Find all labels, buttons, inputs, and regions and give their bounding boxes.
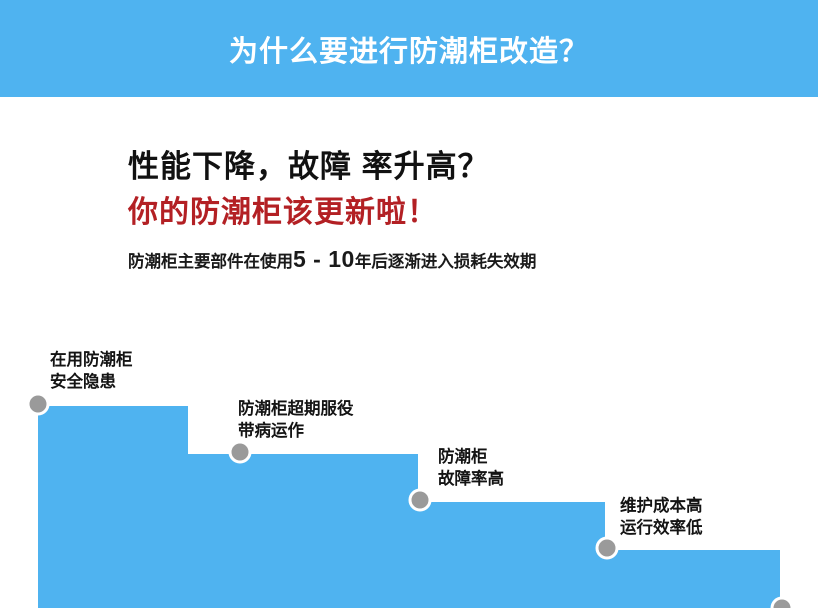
step-dot-2 bbox=[230, 442, 250, 462]
step-label-2: 防潮柜超期服役 带病运作 bbox=[238, 398, 354, 443]
subline-suffix: 年后逐渐进入损耗失效期 bbox=[355, 253, 537, 271]
step-label-1: 在用防潮柜 安全隐患 bbox=[50, 349, 133, 394]
subline-years: 5 - 10 bbox=[293, 246, 355, 272]
headline-primary: 性能下降，故障 率升高？ bbox=[128, 148, 768, 187]
step-dot-5 bbox=[772, 598, 792, 608]
step-label-3: 防潮柜 故障率高 bbox=[438, 446, 504, 491]
subline-prefix: 防潮柜主要部件在使用 bbox=[128, 253, 293, 271]
step-dot-1 bbox=[28, 394, 48, 414]
headline-subline: 防潮柜主要部件在使用5 - 10年后逐渐进入损耗失效期 bbox=[128, 246, 768, 273]
headline-secondary: 你的防潮柜该更新啦！ bbox=[128, 193, 768, 232]
step-dot-3 bbox=[410, 490, 430, 510]
banner-title: 为什么要进行防潮柜改造？ bbox=[229, 28, 589, 70]
step-dot-4 bbox=[597, 538, 617, 558]
header-banner: 为什么要进行防潮柜改造？ bbox=[0, 0, 818, 97]
step-label-4: 维护成本高 运行效率低 bbox=[620, 495, 703, 540]
headline-block: 性能下降，故障 率升高？ 你的防潮柜该更新啦！ 防潮柜主要部件在使用5 - 10… bbox=[128, 148, 768, 273]
